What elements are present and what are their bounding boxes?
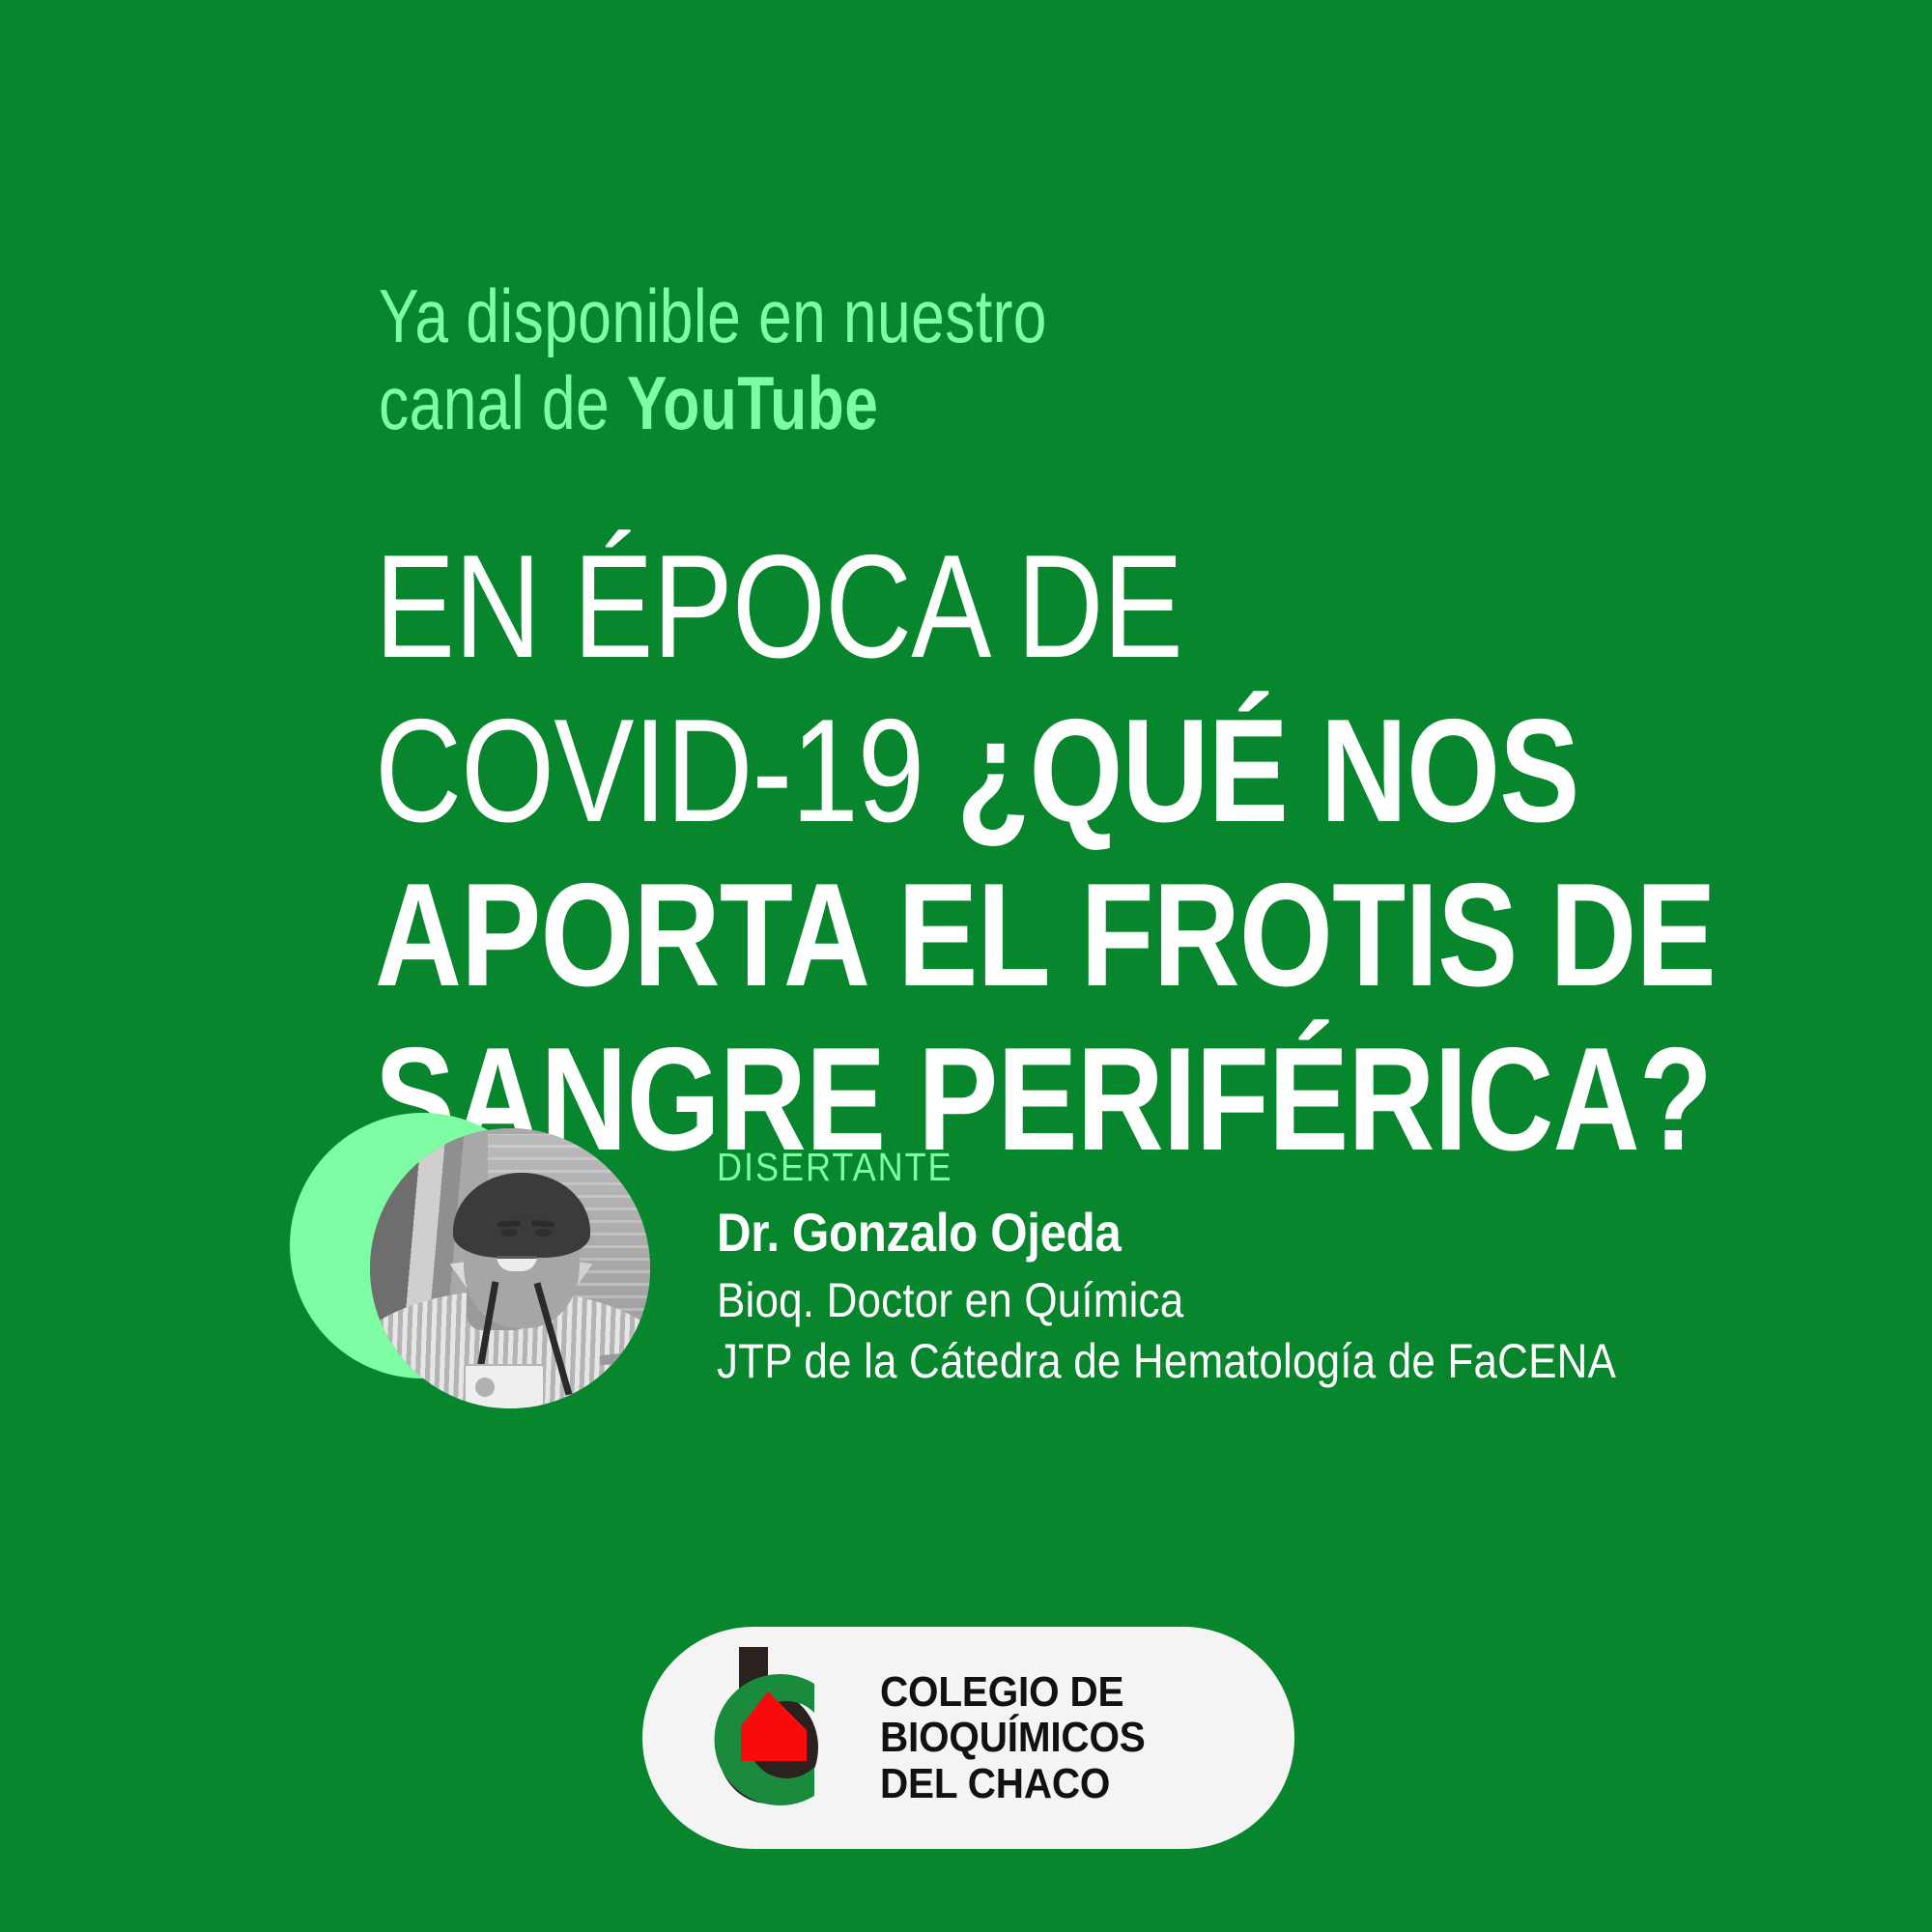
portrait-eyebrow-left xyxy=(497,1220,521,1228)
speaker-portrait-photo xyxy=(370,1128,650,1408)
portrait-id-badge xyxy=(464,1364,545,1408)
logo-text-line-2: BIOQUÍMICOS xyxy=(880,1715,1146,1761)
headline-line-1: EN ÉPOCA DE xyxy=(375,533,1563,680)
headline-line-2-light: COVID-19 xyxy=(375,689,956,853)
kicker-line-2: canal de YouTube xyxy=(379,359,1229,446)
organization-logo-text: COLEGIO DE BIOQUÍMICOS DEL CHACO xyxy=(880,1669,1146,1807)
kicker-block: Ya disponible en nuestro canal de YouTub… xyxy=(379,272,1229,447)
logo-text-line-3: DEL CHACO xyxy=(880,1761,1146,1807)
headline-line-2-bold: ¿QUÉ NOS xyxy=(956,689,1578,853)
page-title: EN ÉPOCA DE COVID-19 ¿QUÉ NOS APORTA EL … xyxy=(375,533,1563,1190)
poster-canvas: Ya disponible en nuestro canal de YouTub… xyxy=(0,0,1932,1932)
colegio-bioquimicos-logo-icon xyxy=(679,1643,855,1833)
headline-line-2: COVID-19 ¿QUÉ NOS xyxy=(375,697,1563,844)
youtube-brand-label: YouTube xyxy=(627,360,878,445)
speaker-name: Dr. Gonzalo Ojeda xyxy=(717,1201,1694,1264)
speaker-credential: Bioq. Doctor en Química xyxy=(717,1270,1694,1331)
kicker-line-1: Ya disponible en nuestro xyxy=(379,272,1229,359)
portrait-shirt-pocket xyxy=(599,1352,625,1365)
logo-text-line-1: COLEGIO DE xyxy=(880,1669,1146,1716)
avatar xyxy=(290,1113,609,1412)
speaker-position: JTP de la Cátedra de Hematología de FaCE… xyxy=(717,1331,1694,1392)
headline-line-3: APORTA EL FROTIS DE xyxy=(375,862,1563,1009)
organization-logo-pill: COLEGIO DE BIOQUÍMICOS DEL CHACO xyxy=(642,1627,1294,1849)
speaker-info-block: DISERTANTE Dr. Gonzalo Ojeda Bioq. Docto… xyxy=(717,1144,1694,1392)
speaker-role-label: DISERTANTE xyxy=(717,1144,1694,1191)
kicker-line-2-prefix: canal de xyxy=(379,360,627,445)
portrait-eyebrow-right xyxy=(531,1220,554,1228)
